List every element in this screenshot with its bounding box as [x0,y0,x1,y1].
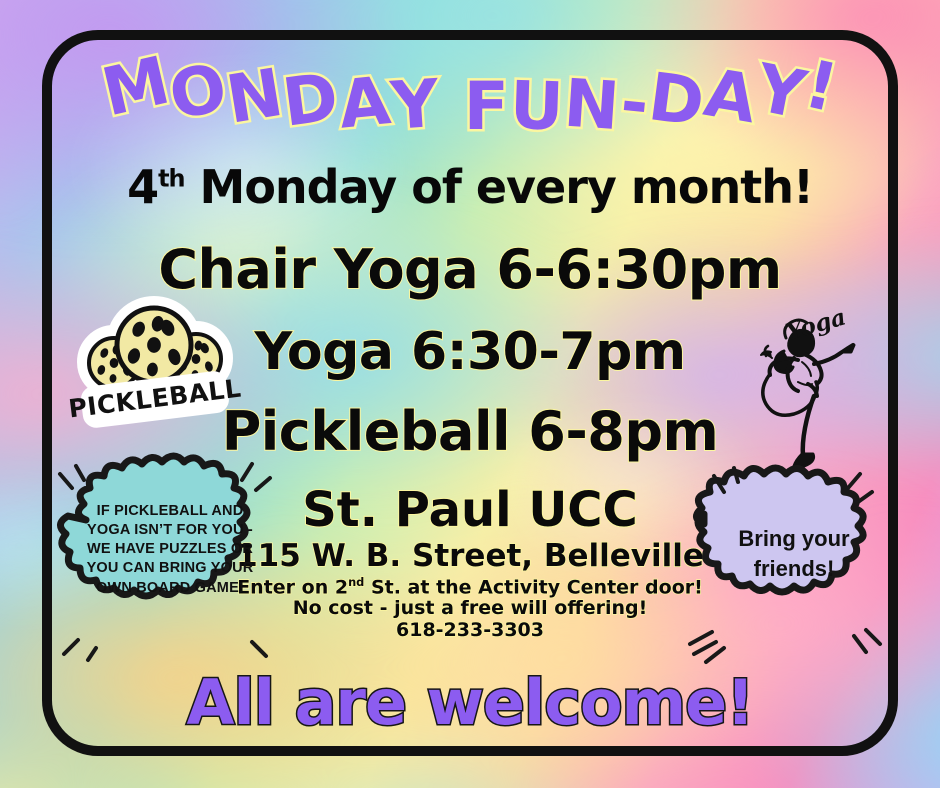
subtitle-frequency: 4th Monday of every month! [0,160,940,214]
subtitle-ordinal-suffix: th [158,165,184,193]
info-bubble-friends: Bring your friends! [676,468,902,664]
page-title-char: M [95,41,177,131]
yoga-dancer-pose [761,320,854,467]
pickleball-ball-center [117,308,191,382]
yoga-label-text: Yoga [783,303,849,346]
closing-message: All are welcome! [0,666,940,739]
info-bubble-friends-text: Bring your friends! [710,524,878,583]
page-title-char: A [335,62,394,144]
pickleball-sticker: PICKLEBALL [74,300,236,426]
schedule-line-chair-yoga: Chair Yoga 6-6:30pm [0,238,940,301]
page-title-char: D [278,58,343,142]
yoga-illustration: Yoga [726,296,876,472]
page-title-text: MONDAY FUN-DAY! [103,48,837,125]
pickleball-sticker-graphic: PICKLEBALL [74,300,236,426]
page-title: MONDAY FUN-DAY! [0,48,940,125]
page-title-char: F [464,68,510,145]
poster-canvas: MONDAY FUN-DAY! 4th Monday of every mont… [0,0,940,788]
page-title-char: Y [389,65,443,145]
page-title-char: N [562,65,623,145]
info-bubble-alternatives-text: IF PICKLEBALL AND YOGA ISN’T FOR YOU - W… [84,502,256,598]
entry-note-post: St. at the Activity Center door! [364,576,702,598]
page-title-char: U [509,67,566,146]
page-title-char: A [699,54,763,138]
subtitle-rest: Monday of every month! [185,160,813,214]
subtitle-ordinal-number: 4 [127,160,158,214]
info-bubble-alternatives: IF PICKLEBALL AND YOGA ISN’T FOR YOU - W… [56,462,288,662]
entry-note-ordinal-suffix: nd [348,575,364,589]
page-title-char [439,67,465,145]
yoga-figure-graphic: Yoga [726,296,876,472]
